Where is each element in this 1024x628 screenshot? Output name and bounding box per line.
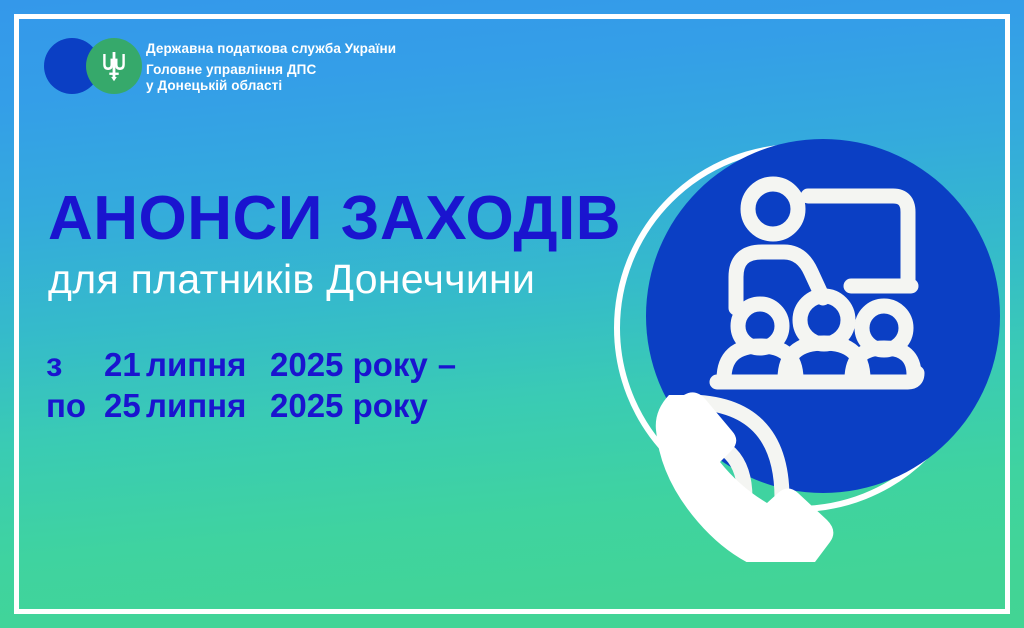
logo-text-block: Державна податкова служба України Головн… [146, 38, 396, 95]
logo-line-3: у Донецькій області [146, 78, 396, 95]
date-to-day: 25 [104, 385, 146, 426]
logo-line-2: Головне управління ДПС [146, 62, 396, 79]
date-row-to: по 25 липня 2025 року [46, 385, 456, 426]
logo-green-circle-icon [86, 38, 142, 94]
ukraine-trident-icon [101, 50, 127, 82]
date-to-month: липня [146, 385, 270, 426]
logo-line-1: Державна податкова служба України [146, 41, 396, 58]
agency-logo: Державна податкова служба України Головн… [44, 38, 396, 95]
page-subtitle: для платників Донеччини [48, 254, 621, 304]
date-from-month: липня [146, 344, 270, 385]
date-range-dash: – [428, 344, 456, 385]
page-title: АНОНСИ ЗАХОДІВ [48, 186, 621, 252]
date-to-year: 2025 року [270, 385, 428, 426]
date-from-day: 21 [104, 344, 146, 385]
seminar-presentation-phone-illustration [612, 112, 1012, 562]
poster-canvas: Державна податкова служба України Головн… [0, 0, 1024, 628]
date-from-year: 2025 року [270, 344, 428, 385]
date-to-prefix: по [46, 385, 104, 426]
logo-marks [44, 38, 138, 94]
event-date-range: з 21 липня 2025 року – по 25 липня 2025 … [46, 344, 456, 426]
date-from-prefix: з [46, 344, 104, 385]
date-row-from: з 21 липня 2025 року – [46, 344, 456, 385]
headline-block: АНОНСИ ЗАХОДІВ для платників Донеччини [48, 186, 621, 304]
